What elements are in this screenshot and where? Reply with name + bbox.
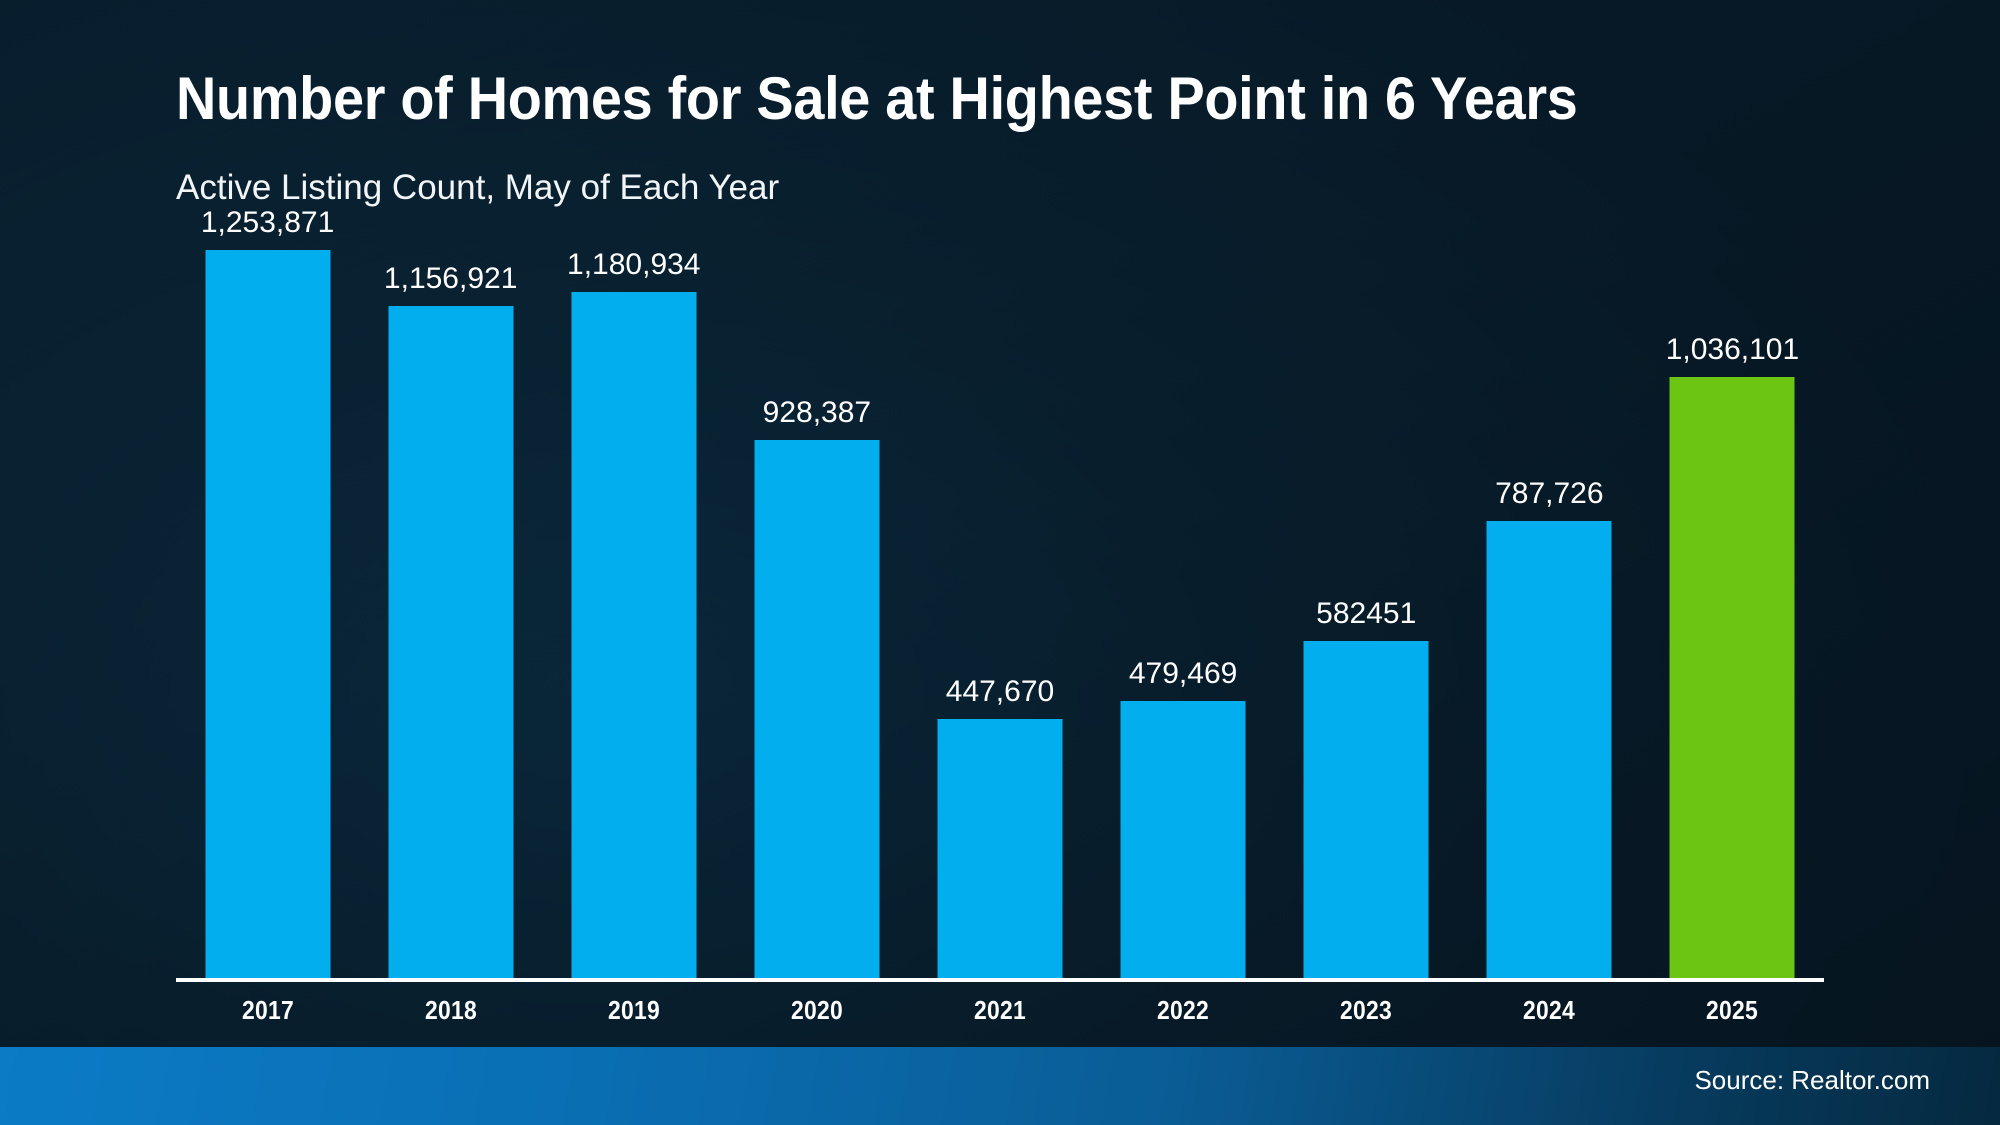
bar-2017[interactable] <box>205 250 330 980</box>
x-tick-2022: 2022 <box>1157 995 1209 1026</box>
bar-value-label-2020: 928,387 <box>763 398 871 428</box>
bar-value-label-2024: 787,726 <box>1495 479 1603 509</box>
bar-2024[interactable] <box>1487 521 1612 980</box>
x-tick-2020: 2020 <box>791 995 843 1026</box>
bar-group: 1,036,101 <box>1641 250 1824 980</box>
bar-column[interactable]: 1,253,871 <box>205 250 330 980</box>
x-tick-2021: 2021 <box>974 995 1026 1026</box>
bar-column[interactable]: 928,387 <box>754 440 879 981</box>
bar-value-label-2025: 1,036,101 <box>1666 335 1799 365</box>
x-tick-2017: 2017 <box>242 995 294 1026</box>
bar-group: 1,156,921 <box>359 250 542 980</box>
bar-column[interactable]: 787,726 <box>1487 521 1612 980</box>
bar-group: 1,253,871 <box>176 250 359 980</box>
x-tick-2019: 2019 <box>608 995 660 1026</box>
plot-area: 1,253,8711,156,9211,180,934928,387447,67… <box>176 250 1824 980</box>
bar-2023[interactable] <box>1304 641 1429 980</box>
bar-2022[interactable] <box>1121 701 1246 980</box>
x-axis-tick-labels: 201720182019202020212022202320242025 <box>176 995 1824 1041</box>
bar-group: 447,670 <box>908 250 1091 980</box>
bar-2021[interactable] <box>937 719 1062 980</box>
bar-value-label-2017: 1,253,871 <box>201 208 334 238</box>
bar-column[interactable]: 1,180,934 <box>571 292 696 980</box>
bar-value-label-2022: 479,469 <box>1129 659 1237 689</box>
source-attribution: Source: Realtor.com <box>1694 1065 1930 1096</box>
bar-group: 928,387 <box>725 250 908 980</box>
bar-group: 787,726 <box>1458 250 1641 980</box>
bar-2018[interactable] <box>388 306 513 980</box>
bar-column[interactable]: 1,036,101 <box>1670 377 1795 980</box>
x-tick-2025: 2025 <box>1706 995 1758 1026</box>
bar-column[interactable]: 582451 <box>1304 641 1429 980</box>
bar-group: 1,180,934 <box>542 250 725 980</box>
x-tick-2024: 2024 <box>1523 995 1575 1026</box>
chart-subtitle: Active Listing Count, May of Each Year <box>176 168 779 208</box>
bar-2020[interactable] <box>754 440 879 981</box>
bar-value-label-2019: 1,180,934 <box>567 250 700 280</box>
bar-value-label-2018: 1,156,921 <box>384 264 517 294</box>
x-tick-2023: 2023 <box>1340 995 1392 1026</box>
bar-2025[interactable] <box>1670 377 1795 980</box>
bar-group: 582451 <box>1275 250 1458 980</box>
bar-column[interactable]: 1,156,921 <box>388 306 513 980</box>
chart-infographic: Number of Homes for Sale at Highest Poin… <box>0 0 2000 1125</box>
bar-value-label-2021: 447,670 <box>946 677 1054 707</box>
bar-group: 479,469 <box>1092 250 1275 980</box>
page-title: Number of Homes for Sale at Highest Poin… <box>176 64 1578 133</box>
x-tick-2018: 2018 <box>425 995 477 1026</box>
x-axis-line <box>176 978 1824 982</box>
bar-column[interactable]: 447,670 <box>937 719 1062 980</box>
bar-2019[interactable] <box>571 292 696 980</box>
bar-column[interactable]: 479,469 <box>1121 701 1246 980</box>
bar-value-label-2023: 582451 <box>1316 599 1416 629</box>
